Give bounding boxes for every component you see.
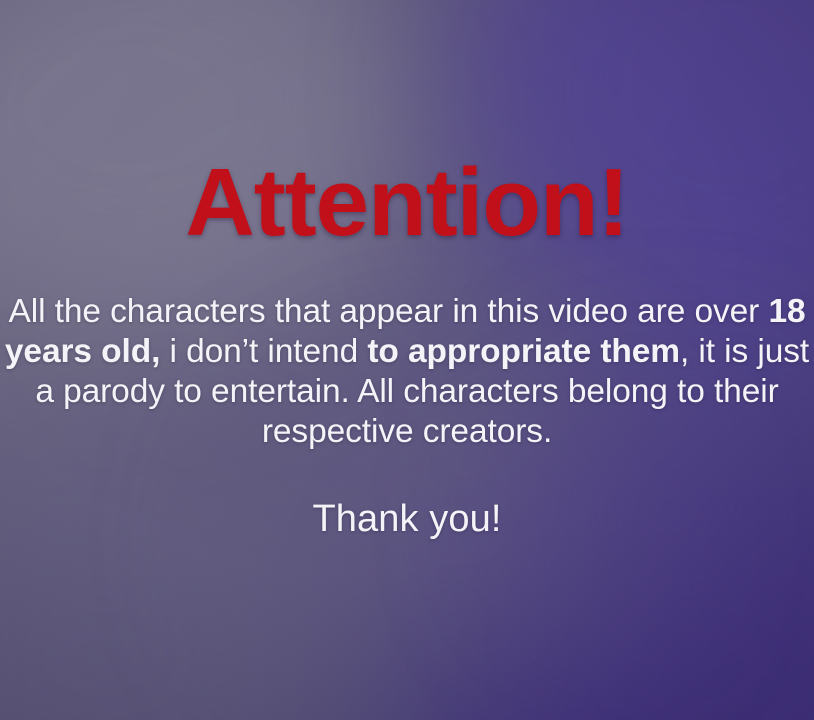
disclaimer-line-2: years old, i don’t intend to appropriate… [0, 332, 814, 372]
disclaimer-appropriate-emphasis: to appropriate them [367, 333, 680, 370]
attention-title: Attention! [0, 152, 814, 254]
disclaimer-slide: Attention! All the characters that appea… [0, 0, 814, 720]
disclaimer-age-emphasis: 18 [768, 293, 805, 330]
slide-content: Attention! All the characters that appea… [0, 0, 814, 720]
disclaimer-text: All the characters that appear in this v… [0, 292, 814, 452]
disclaimer-line-2-end: , it is just [680, 333, 809, 370]
disclaimer-line-3: a parody to entertain. All characters be… [0, 372, 814, 412]
disclaimer-line-4: respective creators. [0, 412, 814, 452]
disclaimer-line-2-mid: i don’t intend [160, 333, 367, 370]
disclaimer-line-1: All the characters that appear in this v… [0, 292, 814, 332]
disclaimer-years-old-emphasis: years old, [5, 333, 160, 370]
thank-you-text: Thank you! [0, 498, 814, 541]
disclaimer-line-1-prefix: All the characters that appear in this v… [9, 293, 769, 330]
